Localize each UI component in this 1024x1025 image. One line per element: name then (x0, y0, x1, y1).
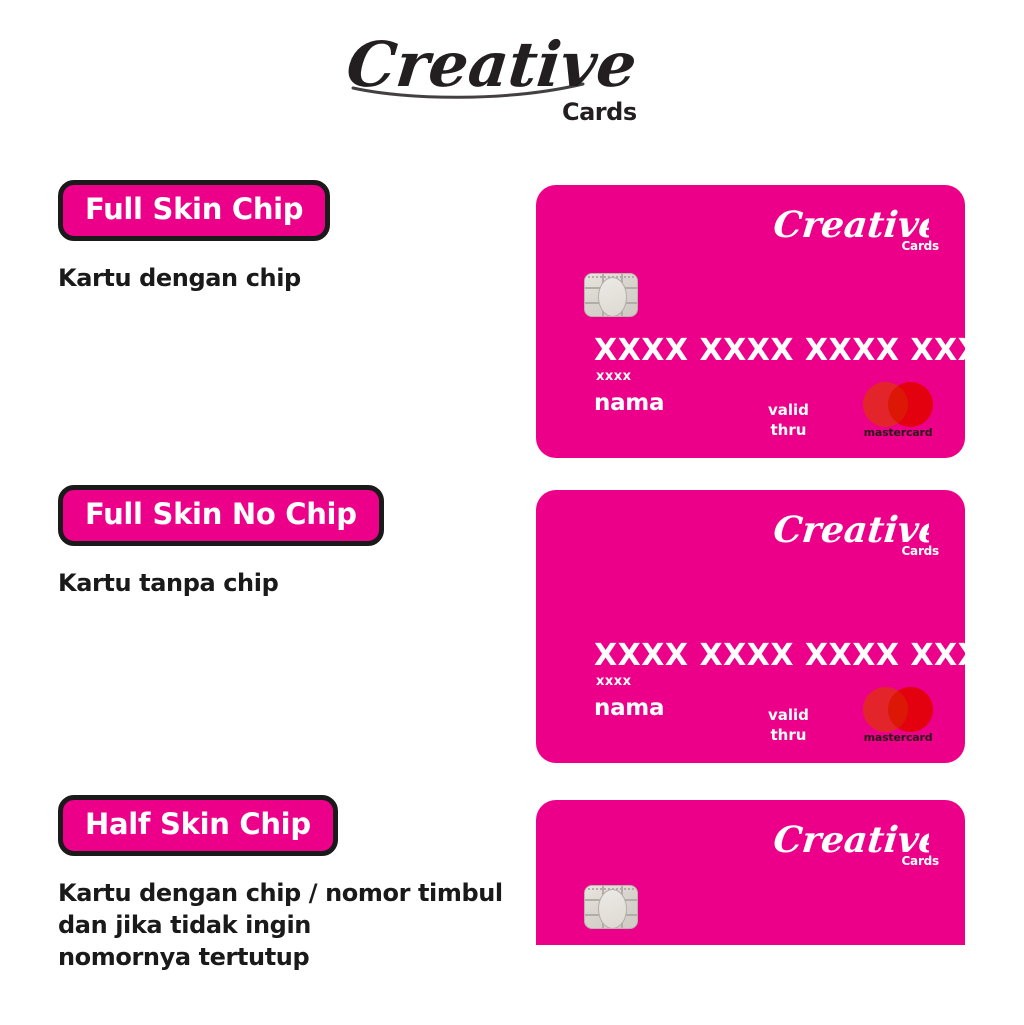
label-column: Half Skin Chip Kartu dengan chip / nomor… (58, 795, 528, 973)
brand-lockup: Creative Cards (347, 28, 677, 133)
card-number-small: xxxx (596, 674, 632, 689)
card-valid-thru-label: valid thru (768, 401, 809, 440)
svg-text:Creative: Creative (347, 28, 640, 101)
mastercard-wordmark: mastercard (853, 426, 943, 439)
card-brand-logo: Creative Cards (774, 203, 939, 265)
badge-half-skin-chip[interactable]: Half Skin Chip (58, 795, 338, 856)
product-row-full-skin-no-chip: Full Skin No Chip Kartu tanpa chip Creat… (0, 485, 1024, 785)
card-brand-sub-label: Cards (901, 239, 939, 253)
mastercard-circles-icon (853, 382, 943, 427)
product-row-full-skin-chip: Full Skin Chip Kartu dengan chip Creativ… (0, 180, 1024, 480)
mastercard-wordmark: mastercard (853, 731, 943, 744)
label-column: Full Skin No Chip Kartu tanpa chip (58, 485, 528, 600)
creative-script-logo: Creative (347, 28, 647, 108)
description-full-skin-no-chip: Kartu tanpa chip (58, 568, 528, 600)
brand-sub-label: Cards (562, 98, 637, 126)
card-brand-sub-label: Cards (901, 854, 939, 868)
card-preview-full-skin-chip[interactable]: Creative Cards XXXX XXXX XXXX XXXX xxxx … (536, 185, 965, 458)
emv-chip-icon (584, 273, 638, 317)
description-half-skin-chip: Kartu dengan chip / nomor timbul dan jik… (58, 878, 528, 973)
card-brand-logo: Creative Cards (774, 508, 939, 570)
brand-header: Creative Cards (0, 28, 1024, 138)
card-valid-thru-label: valid thru (768, 706, 809, 745)
card-number: XXXX XXXX XXXX XXXX (594, 333, 965, 368)
badge-full-skin-chip[interactable]: Full Skin Chip (58, 180, 330, 241)
card-preview-full-skin-no-chip[interactable]: Creative Cards XXXX XXXX XXXX XXXX xxxx … (536, 490, 965, 763)
product-row-half-skin-chip: Half Skin Chip Kartu dengan chip / nomor… (0, 795, 1024, 1025)
card-preview-half-skin-chip[interactable]: Creative Cards (536, 800, 965, 945)
description-full-skin-chip: Kartu dengan chip (58, 263, 528, 295)
emv-chip-icon (584, 885, 638, 929)
card-number-small: xxxx (596, 369, 632, 384)
mastercard-logo: mastercard (853, 687, 943, 749)
card-brand-sub-label: Cards (901, 544, 939, 558)
badge-full-skin-no-chip[interactable]: Full Skin No Chip (58, 485, 384, 546)
card-brand-logo: Creative Cards (774, 818, 939, 880)
mastercard-logo: mastercard (853, 382, 943, 444)
mastercard-circles-icon (853, 687, 943, 732)
card-holder-name: nama (594, 695, 664, 721)
label-column: Full Skin Chip Kartu dengan chip (58, 180, 528, 295)
card-number: XXXX XXXX XXXX XXXX (594, 638, 965, 673)
card-holder-name: nama (594, 390, 664, 416)
